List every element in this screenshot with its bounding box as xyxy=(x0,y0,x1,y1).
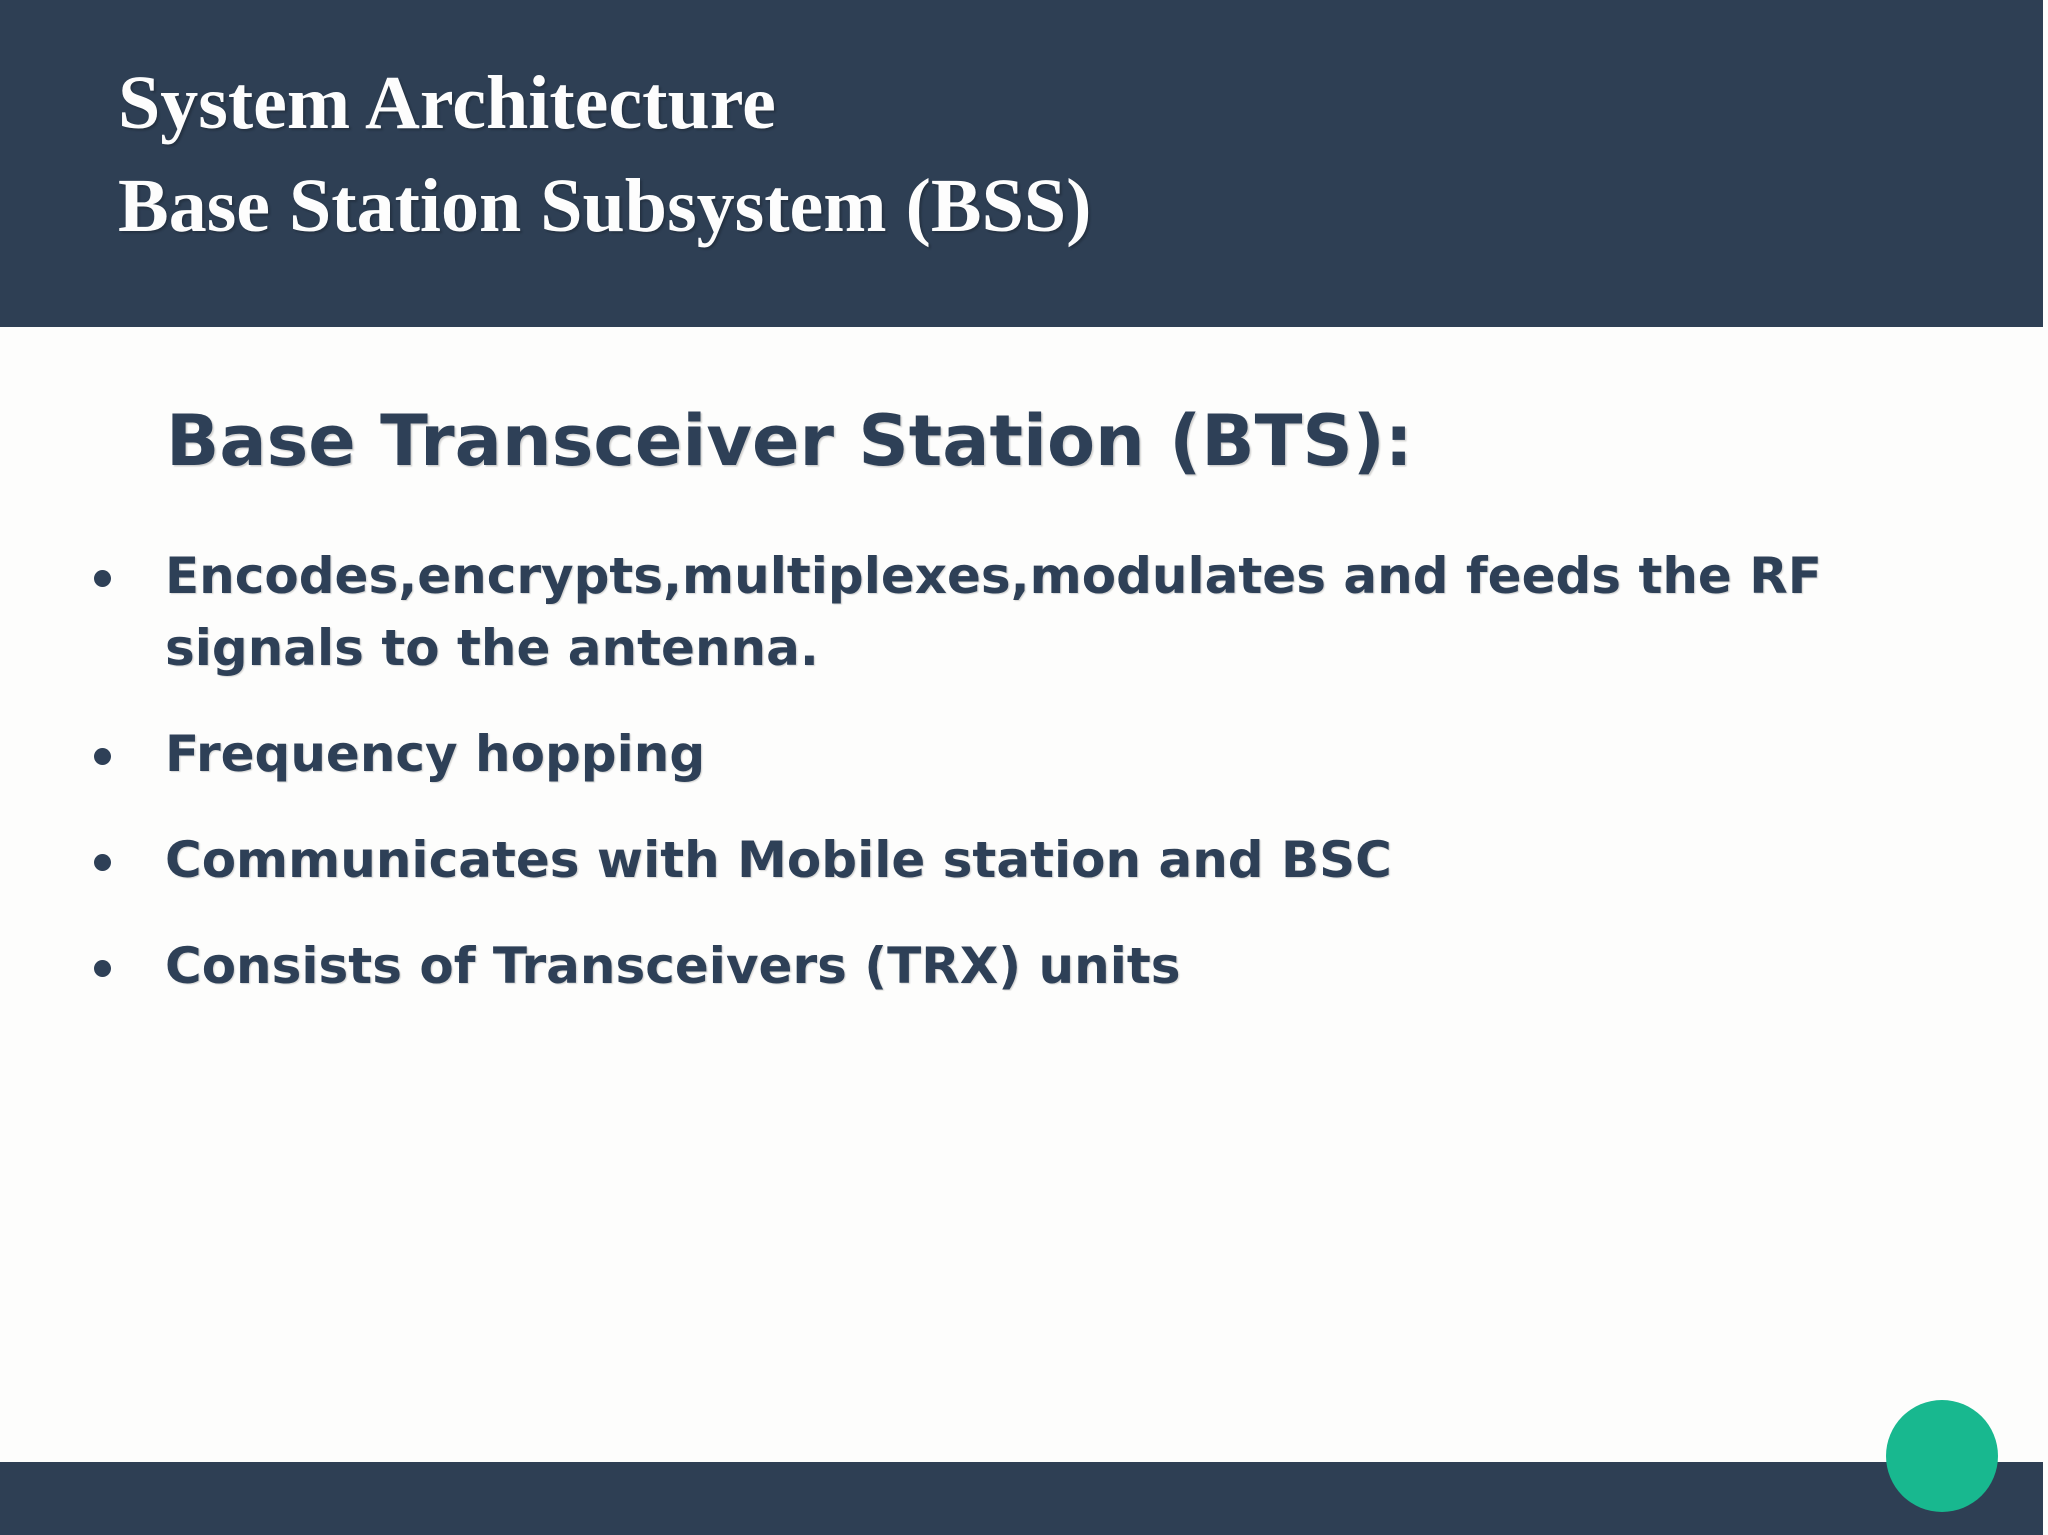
list-item: Frequency hopping xyxy=(0,718,2048,790)
bullet-list: Encodes,encrypts,multiplexes,modulates a… xyxy=(0,540,2048,1036)
accent-circle-decoration xyxy=(1886,1400,1998,1512)
list-item: Encodes,encrypts,multiplexes,modulates a… xyxy=(0,540,2048,684)
bullet-text: Frequency hopping xyxy=(165,718,2008,790)
slide-header-band: System Architecture Base Station Subsyst… xyxy=(0,0,2043,327)
bullet-dot-icon xyxy=(94,854,111,871)
list-item: Consists of Transceivers (TRX) units xyxy=(0,930,2048,1002)
bullet-text: Consists of Transceivers (TRX) units xyxy=(165,930,2008,1002)
bullet-text: Communicates with Mobile station and BSC xyxy=(165,824,2008,896)
bullet-dot-icon xyxy=(94,748,111,765)
slide-footer-band xyxy=(0,1462,2043,1535)
section-heading: Base Transceiver Station (BTS): xyxy=(166,398,1413,484)
slide-title-line-1: System Architecture xyxy=(118,52,1918,155)
slide-canvas: System Architecture Base Station Subsyst… xyxy=(0,0,2048,1535)
bullet-text: Encodes,encrypts,multiplexes,modulates a… xyxy=(165,540,2008,684)
slide-title-block: System Architecture Base Station Subsyst… xyxy=(118,52,1918,258)
list-item: Communicates with Mobile station and BSC xyxy=(0,824,2048,896)
bullet-dot-icon xyxy=(94,570,111,587)
bullet-dot-icon xyxy=(94,960,111,977)
slide-title-line-2: Base Station Subsystem (BSS) xyxy=(118,155,1918,258)
right-edge-strip xyxy=(2043,0,2048,1535)
